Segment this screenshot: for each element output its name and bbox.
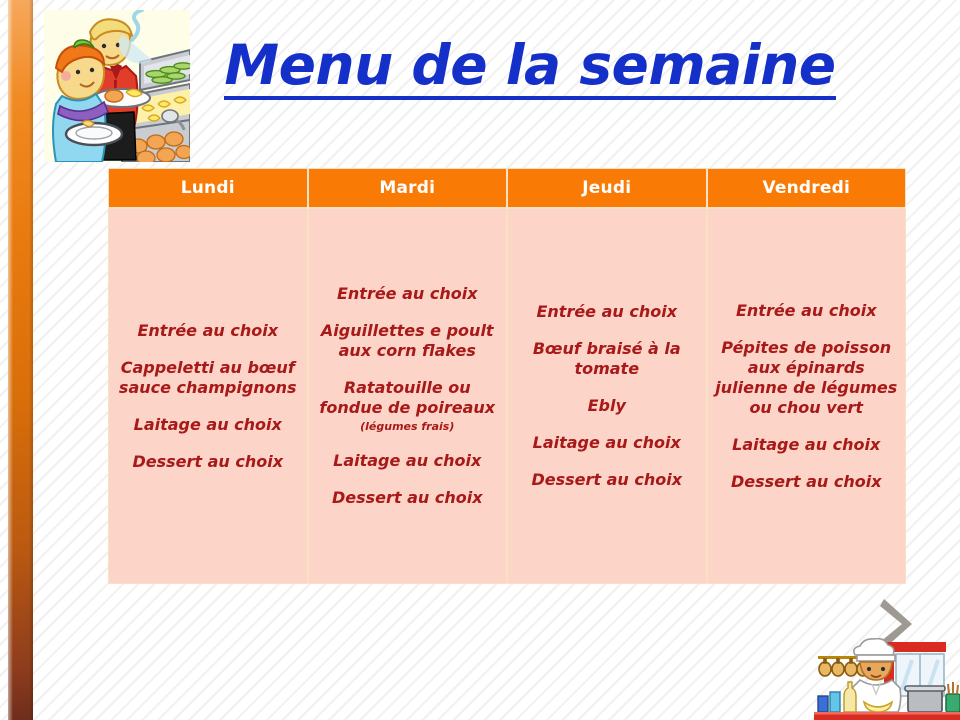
menu-body-row: Entrée au choix Cappeletti au bœuf sauce… (108, 208, 906, 584)
menu-item: Dessert au choix (712, 472, 902, 492)
page-title: Menu de la semaine (224, 36, 835, 100)
menu-item: Entrée au choix (512, 302, 702, 322)
menu-cell-mardi: Entrée au choix Aiguillettes e poult aux… (308, 208, 508, 584)
menu-item: Laitage au choix (712, 435, 902, 455)
title-container: Menu de la semaine (205, 36, 855, 100)
menu-item: Laitage au choix (512, 433, 702, 453)
menu-item: Dessert au choix (113, 452, 303, 472)
menu-item-note: (légumes frais) (313, 420, 503, 434)
menu-item: Laitage au choix (313, 451, 503, 471)
menu-item: Ebly (512, 396, 702, 416)
menu-item: Pépites de poisson aux épinards julienne… (712, 338, 902, 418)
menu-item: Cappeletti au bœuf sauce champignons (113, 358, 303, 398)
cafeteria-clipart (44, 10, 190, 162)
menu-item: Entrée au choix (712, 301, 902, 321)
column-header-mardi: Mardi (308, 168, 508, 208)
menu-cell-jeudi: Entrée au choix Bœuf braisé à la tomate … (507, 208, 707, 584)
menu-header-row: Lundi Mardi Jeudi Vendredi (108, 168, 906, 208)
weekly-menu-table: Lundi Mardi Jeudi Vendredi Entrée au cho… (108, 168, 906, 584)
chef-clipart (812, 638, 960, 720)
menu-cell-vendredi: Entrée au choix Pépites de poisson aux é… (707, 208, 907, 584)
menu-item: Bœuf braisé à la tomate (512, 339, 702, 379)
column-header-lundi: Lundi (108, 168, 308, 208)
menu-item: Aiguillettes e poult aux corn flakes (313, 321, 503, 361)
menu-item: Entrée au choix (313, 284, 503, 304)
menu-item: Dessert au choix (512, 470, 702, 490)
menu-item: Laitage au choix (113, 415, 303, 435)
menu-item: Entrée au choix (113, 321, 303, 341)
slide-canvas: Menu de la semaine Lundi Mardi Jeudi Ven… (0, 0, 960, 720)
left-accent-bar (8, 0, 33, 720)
column-header-jeudi: Jeudi (507, 168, 707, 208)
menu-cell-lundi: Entrée au choix Cappeletti au bœuf sauce… (108, 208, 308, 584)
menu-item: Ratatouille ou fondue de poireaux (313, 378, 503, 418)
menu-item: Dessert au choix (313, 488, 503, 508)
column-header-vendredi: Vendredi (707, 168, 907, 208)
